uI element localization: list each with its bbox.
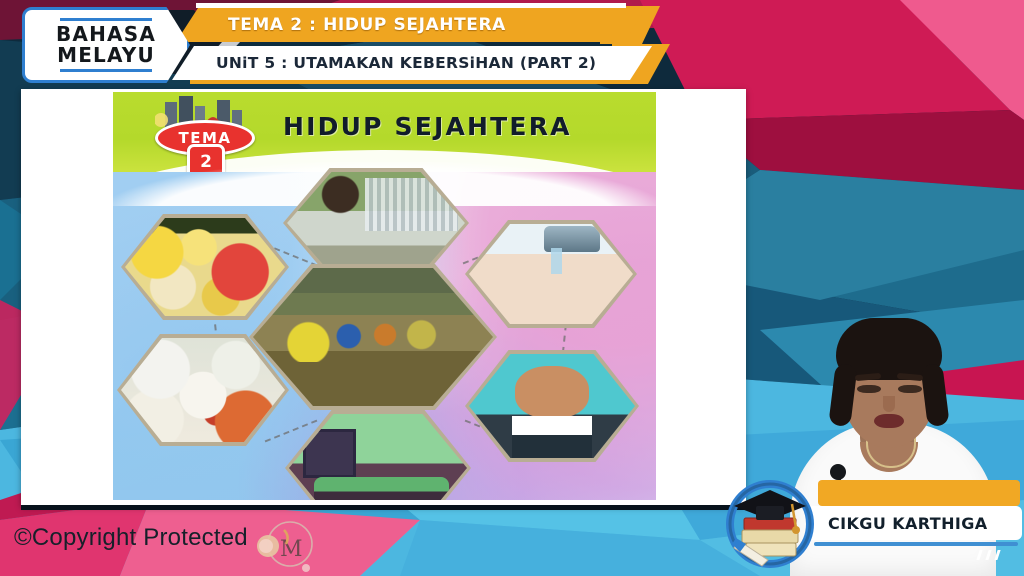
photo-tidy-bedroom (289, 414, 467, 500)
nameplate-accent-bar (818, 480, 1020, 506)
book-page-collage (113, 172, 656, 500)
photo-children-running (253, 268, 493, 406)
presenter-eye-right (898, 385, 922, 393)
presenter-eye-left (857, 385, 881, 393)
banner-theme: TEMA 2 : HIDUP SEJAHTERA (176, 8, 646, 42)
nameplate-ticks (978, 550, 1008, 560)
graduation-books-logo-icon (722, 474, 818, 570)
hex-tidy-bedroom (285, 410, 471, 500)
lapel-microphone-icon (830, 464, 846, 480)
book-page-title: HIDUP SEJAHTERA (283, 112, 572, 141)
screen-root: TEMA 2 HIDUP SEJAHTERA (0, 0, 1024, 576)
subject-badge: BAHASA MELAYU (22, 7, 190, 83)
presenter-name: CIKGU KARTHIGA (828, 514, 988, 533)
subject-badge-rule-bottom (60, 69, 152, 72)
subject-badge-line2: MELAYU (57, 45, 155, 66)
hex-tooth-brushing (465, 350, 639, 462)
banner-unit-underline (190, 80, 630, 84)
banner-theme-topline (196, 3, 626, 8)
subject-badge-rule-top (60, 18, 152, 21)
nameplate-underline (814, 542, 1018, 546)
subject-badge-line1: BAHASA (56, 24, 156, 45)
watermark-letter: M (280, 537, 303, 562)
photo-tooth-brushing (469, 354, 635, 458)
hex-fruits (121, 214, 289, 320)
copyright-text: ©Copyright Protected (14, 524, 248, 552)
banner-unit-text: UNiT 5 : UTAMAKAN KEBERSiHAN (PART 2) (216, 54, 596, 72)
banner-theme-text: TEMA 2 : HIDUP SEJAHTERA (228, 15, 506, 35)
banner-unit: UNiT 5 : UTAMAKAN KEBERSiHAN (PART 2) (172, 46, 652, 80)
photo-balanced-meal (121, 338, 285, 442)
presenter-mouth (874, 414, 904, 428)
nameplate-body: CIKGU KARTHIGA (806, 506, 1022, 540)
photo-hand-washing (469, 224, 633, 324)
slide-content-panel: TEMA 2 HIDUP SEJAHTERA (21, 89, 746, 506)
channel-watermark-icon: M (248, 518, 324, 574)
presenter-nose (883, 396, 895, 412)
photo-fruits (125, 218, 285, 316)
photo-push-up (287, 172, 465, 274)
hex-hand-washing (465, 220, 637, 328)
textbook-page-image: TEMA 2 HIDUP SEJAHTERA (113, 92, 656, 500)
